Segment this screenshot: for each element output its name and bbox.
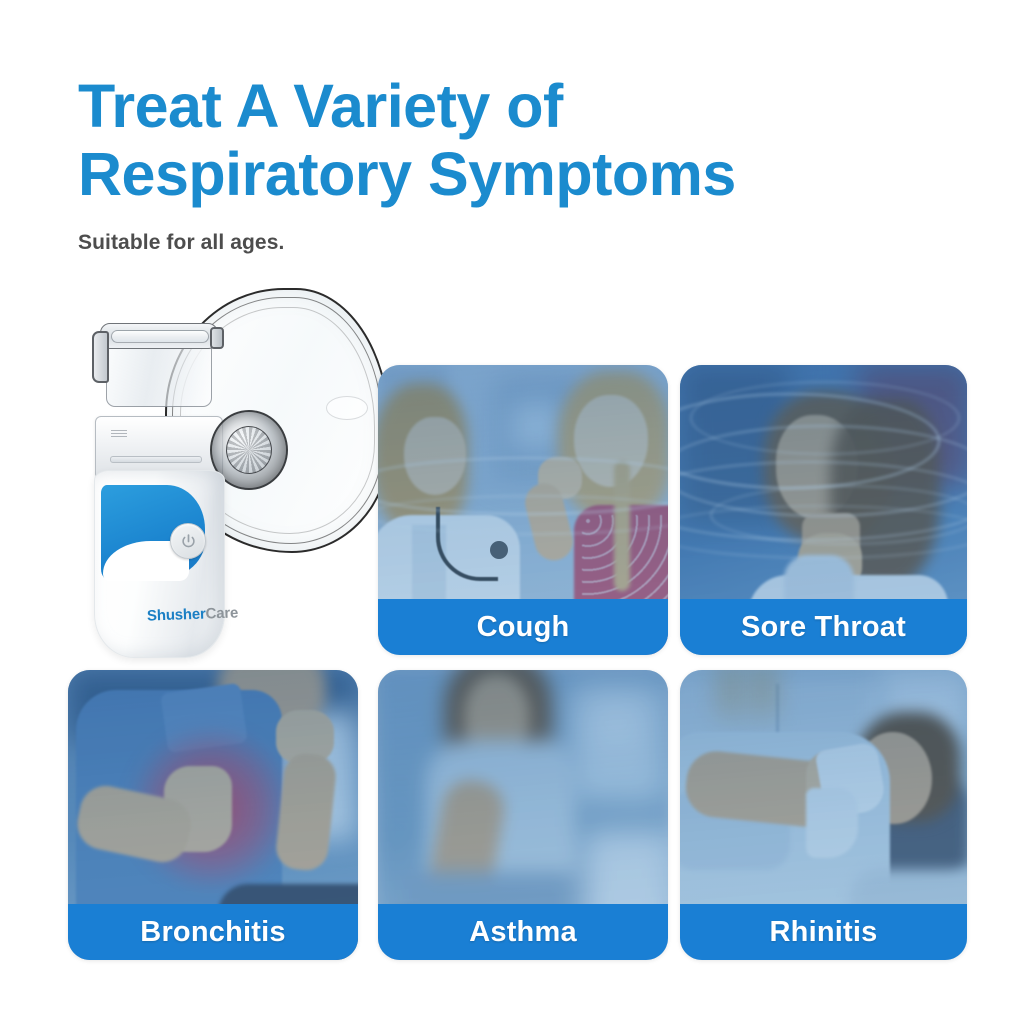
card-label-rhinitis: Rhinitis xyxy=(680,904,967,960)
symptom-card-bronchitis[interactable]: Bronchitis xyxy=(68,670,358,960)
lid-clasp-right xyxy=(210,327,224,349)
card-label-sore-throat: Sore Throat xyxy=(680,599,967,655)
symptom-card-rhinitis[interactable]: Rhinitis xyxy=(680,670,967,960)
card-label-cough: Cough xyxy=(378,599,668,655)
chamber-lid-inner xyxy=(111,330,209,343)
symptom-card-cough[interactable]: Cough xyxy=(378,365,668,655)
header-block: Treat A Variety of Respiratory Symptoms … xyxy=(78,72,978,255)
symptom-card-sore-throat[interactable]: Sore Throat xyxy=(680,365,967,655)
page-subtitle: Suitable for all ages. xyxy=(78,231,978,255)
card-label-bronchitis: Bronchitis xyxy=(68,904,358,960)
page-title: Treat A Variety of Respiratory Symptoms xyxy=(78,72,978,209)
marketing-page: Treat A Variety of Respiratory Symptoms … xyxy=(0,0,1024,1024)
symptom-card-asthma[interactable]: Asthma xyxy=(378,670,668,960)
symptom-card-grid: Cough xyxy=(68,365,967,960)
chamber-lid xyxy=(100,323,218,349)
card-label-asthma: Asthma xyxy=(378,904,668,960)
